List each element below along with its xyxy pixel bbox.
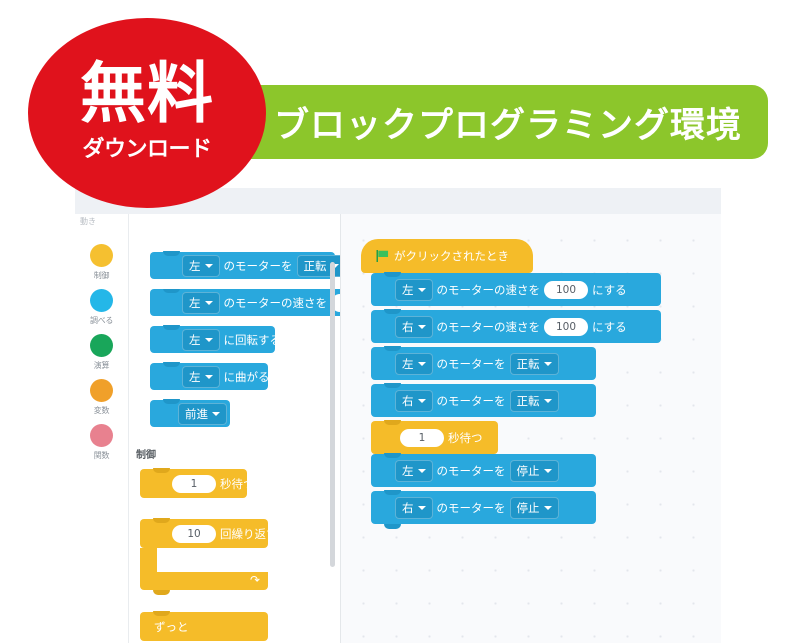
block-notch [153,518,170,523]
block-notch [163,325,180,330]
script-block-motor-direction-left[interactable]: 左 のモーターを 正転 [371,347,596,380]
category-label-control: 制御 [75,270,128,281]
repeat-count-input[interactable]: 10 [172,525,216,543]
palette-block-motor-direction[interactable]: 左 のモーターを 正転 [150,252,335,279]
hat-block-label: がクリックされたとき [394,248,509,264]
category-item-control[interactable]: 制御 [75,244,128,281]
promo-banner-text: ブロックプログラミング環境 [274,97,742,148]
wait-seconds-input[interactable]: 1 [400,429,444,447]
block-notch [163,251,180,256]
dropdown-move[interactable]: 前進 [178,403,227,425]
chevron-down-icon [544,469,552,473]
block-notch [153,468,170,473]
free-download-badge: 無料 ダウンロード [28,18,266,208]
chevron-down-icon [418,399,426,403]
palette-block-repeat[interactable]: 10 回繰り返す ↷ [140,519,268,548]
block-notch [163,399,180,404]
dropdown-side[interactable]: 左 [182,329,220,351]
category-dot-variables [90,379,113,402]
block-programming-app: 動き 制御 調べる 演算 変数 関数 [75,188,721,643]
wait-seconds-input[interactable]: 1 [172,475,216,493]
promo-banner: ブロックプログラミング環境 [232,85,768,159]
chevron-down-icon [418,469,426,473]
chevron-down-icon [544,506,552,510]
chevron-down-icon [544,362,552,366]
palette-section-title-control: 制御 [136,446,156,461]
block-notch [384,272,401,277]
block-notch [384,383,401,388]
chevron-down-icon [212,412,220,416]
speed-input[interactable]: 100 [544,318,588,336]
dropdown-side[interactable]: 左 [395,460,433,482]
green-flag-icon [376,250,389,262]
dropdown-side[interactable]: 右 [395,390,433,412]
category-dot-functions [90,424,113,447]
block-notch [384,346,401,351]
chevron-down-icon [205,338,213,342]
speed-input[interactable]: 100 [544,281,588,299]
dropdown-side[interactable]: 右 [395,497,433,519]
dropdown-side[interactable]: 左 [182,366,220,388]
category-item-operators[interactable]: 演算 [75,334,128,371]
dropdown-side[interactable]: 右 [395,316,433,338]
palette-block-motor-speed[interactable]: 左 のモーターの速さを 100 にする [150,289,340,316]
palette-scrollbar[interactable] [330,262,335,567]
chevron-down-icon [418,362,426,366]
block-notch [153,611,170,616]
category-label-sensing: 調べる [75,315,128,326]
category-item-functions[interactable]: 関数 [75,424,128,461]
dropdown-side[interactable]: 左 [182,292,220,314]
dropdown-direction[interactable]: 正転 [510,353,559,375]
block-notch [384,420,401,425]
badge-main-text: 無料 [80,63,214,126]
palette-block-rotate[interactable]: 左 に回転する [150,326,275,353]
block-notch [163,362,180,367]
script-workspace[interactable]: がクリックされたとき 左 のモーターの速さを 100 にする 右 のモーターの速… [341,214,721,643]
category-column[interactable]: 動き 制御 調べる 演算 変数 関数 [75,214,129,643]
loop-arrow-icon: ↷ [250,573,260,587]
palette-block-move[interactable]: 前進 [150,400,230,427]
chevron-down-icon [418,288,426,292]
dropdown-side[interactable]: 左 [182,255,220,277]
script-block-motor-speed-right[interactable]: 右 のモーターの速さを 100 にする [371,310,661,343]
block-notch [384,309,401,314]
palette-block-forever[interactable]: ずっと [140,612,268,641]
category-dot-operators [90,334,113,357]
script-block-when-flag-clicked[interactable]: がクリックされたとき [361,239,533,273]
chevron-down-icon [418,506,426,510]
script-block-motor-stop-right[interactable]: 右 のモーターを 停止 [371,491,596,524]
category-item-variables[interactable]: 変数 [75,379,128,416]
block-palette[interactable]: 動き 制御 調べる 演算 変数 関数 [75,214,341,643]
palette-block-wait[interactable]: 1 秒待つ [140,469,247,498]
category-item-sensing[interactable]: 調べる [75,289,128,326]
chevron-down-icon [205,264,213,268]
category-dot-control [90,244,113,267]
badge-sub-text: ダウンロード [82,131,211,163]
dropdown-direction[interactable]: 停止 [510,460,559,482]
script-block-motor-stop-left[interactable]: 左 のモーターを 停止 [371,454,596,487]
chevron-down-icon [205,301,213,305]
chevron-down-icon [544,399,552,403]
script-block-motor-speed-left[interactable]: 左 のモーターの速さを 100 にする [371,273,661,306]
category-dot-sensing [90,289,113,312]
category-label-variables: 変数 [75,405,128,416]
block-notch [163,289,180,293]
category-label-functions: 関数 [75,450,128,461]
block-bump [384,524,401,529]
category-label-operators: 演算 [75,360,128,371]
block-notch [384,490,401,495]
dropdown-direction[interactable]: 正転 [510,390,559,412]
palette-scroll-area[interactable]: 左 のモーターを 正転 左 のモーターの速さを 100 にする [128,214,340,643]
dropdown-direction[interactable]: 停止 [510,497,559,519]
dropdown-side[interactable]: 左 [395,353,433,375]
block-bump [153,590,170,595]
palette-top-label: 動き [80,216,96,227]
chevron-down-icon [418,325,426,329]
palette-block-turn[interactable]: 左 に曲がる [150,363,268,390]
repeat-c-bottom: ↷ [140,572,268,590]
repeat-c-arm [140,548,157,572]
script-block-motor-direction-right[interactable]: 右 のモーターを 正転 [371,384,596,417]
chevron-down-icon [205,375,213,379]
block-notch [384,453,401,458]
dropdown-side[interactable]: 左 [395,279,433,301]
script-block-wait[interactable]: 1 秒待つ [371,421,498,454]
